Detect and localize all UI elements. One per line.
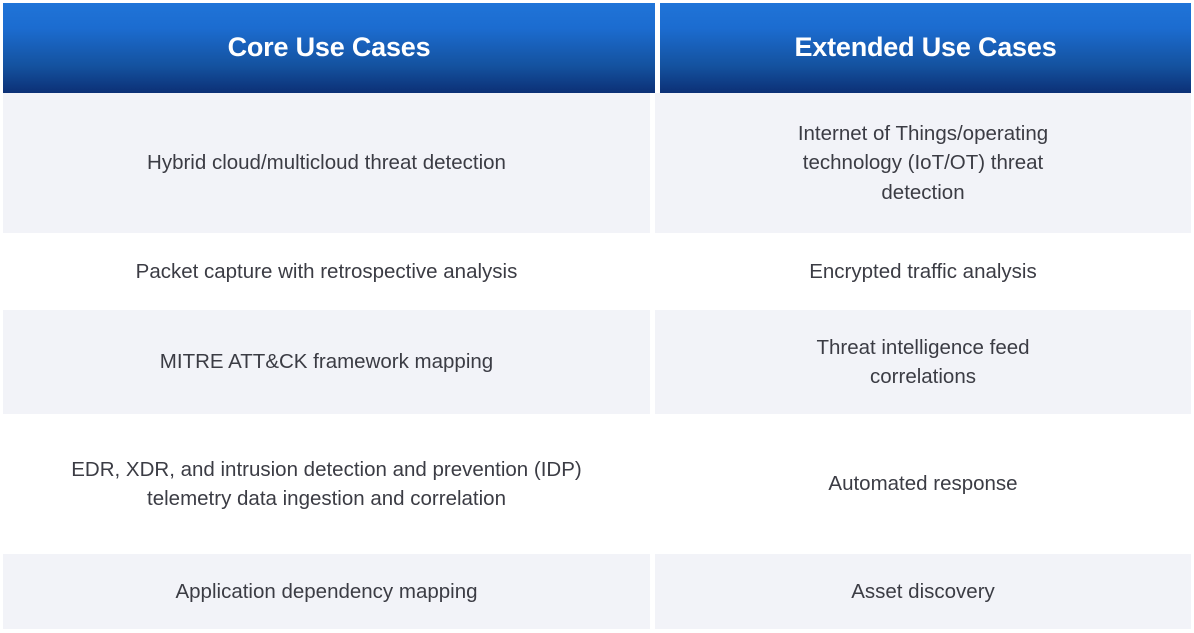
table-row: Hybrid cloud/multicloud threat detection…: [3, 93, 1191, 233]
cell-core-3: MITRE ATT&CK framework mapping: [3, 310, 655, 414]
table-row: Application dependency mapping Asset dis…: [3, 554, 1191, 629]
cell-extended-2: Encrypted traffic analysis: [655, 233, 1191, 310]
cell-extended-1: Internet of Things/operating technology …: [655, 93, 1191, 233]
table-row: Packet capture with retrospective analys…: [3, 233, 1191, 310]
cell-core-5: Application dependency mapping: [3, 554, 655, 629]
table-body: Hybrid cloud/multicloud threat detection…: [0, 93, 1194, 633]
cell-core-1: Hybrid cloud/multicloud threat detection: [3, 93, 655, 233]
cell-core-4: EDR, XDR, and intrusion detection and pr…: [3, 414, 655, 554]
use-cases-comparison-table: Core Use Cases Extended Use Cases Hybrid…: [0, 0, 1194, 633]
table-row: EDR, XDR, and intrusion detection and pr…: [3, 414, 1191, 554]
cell-extended-5: Asset discovery: [655, 554, 1191, 629]
column-header-core-label: Core Use Cases: [228, 33, 431, 63]
table-header-row: Core Use Cases Extended Use Cases: [0, 0, 1194, 93]
cell-core-2: Packet capture with retrospective analys…: [3, 233, 655, 310]
column-header-extended-label: Extended Use Cases: [794, 33, 1056, 63]
table-row: MITRE ATT&CK framework mapping Threat in…: [3, 310, 1191, 414]
column-header-core-use-cases: Core Use Cases: [3, 3, 655, 93]
column-header-extended-use-cases: Extended Use Cases: [660, 3, 1191, 93]
cell-extended-3: Threat intelligence feed correlations: [655, 310, 1191, 414]
cell-extended-4: Automated response: [655, 414, 1191, 554]
